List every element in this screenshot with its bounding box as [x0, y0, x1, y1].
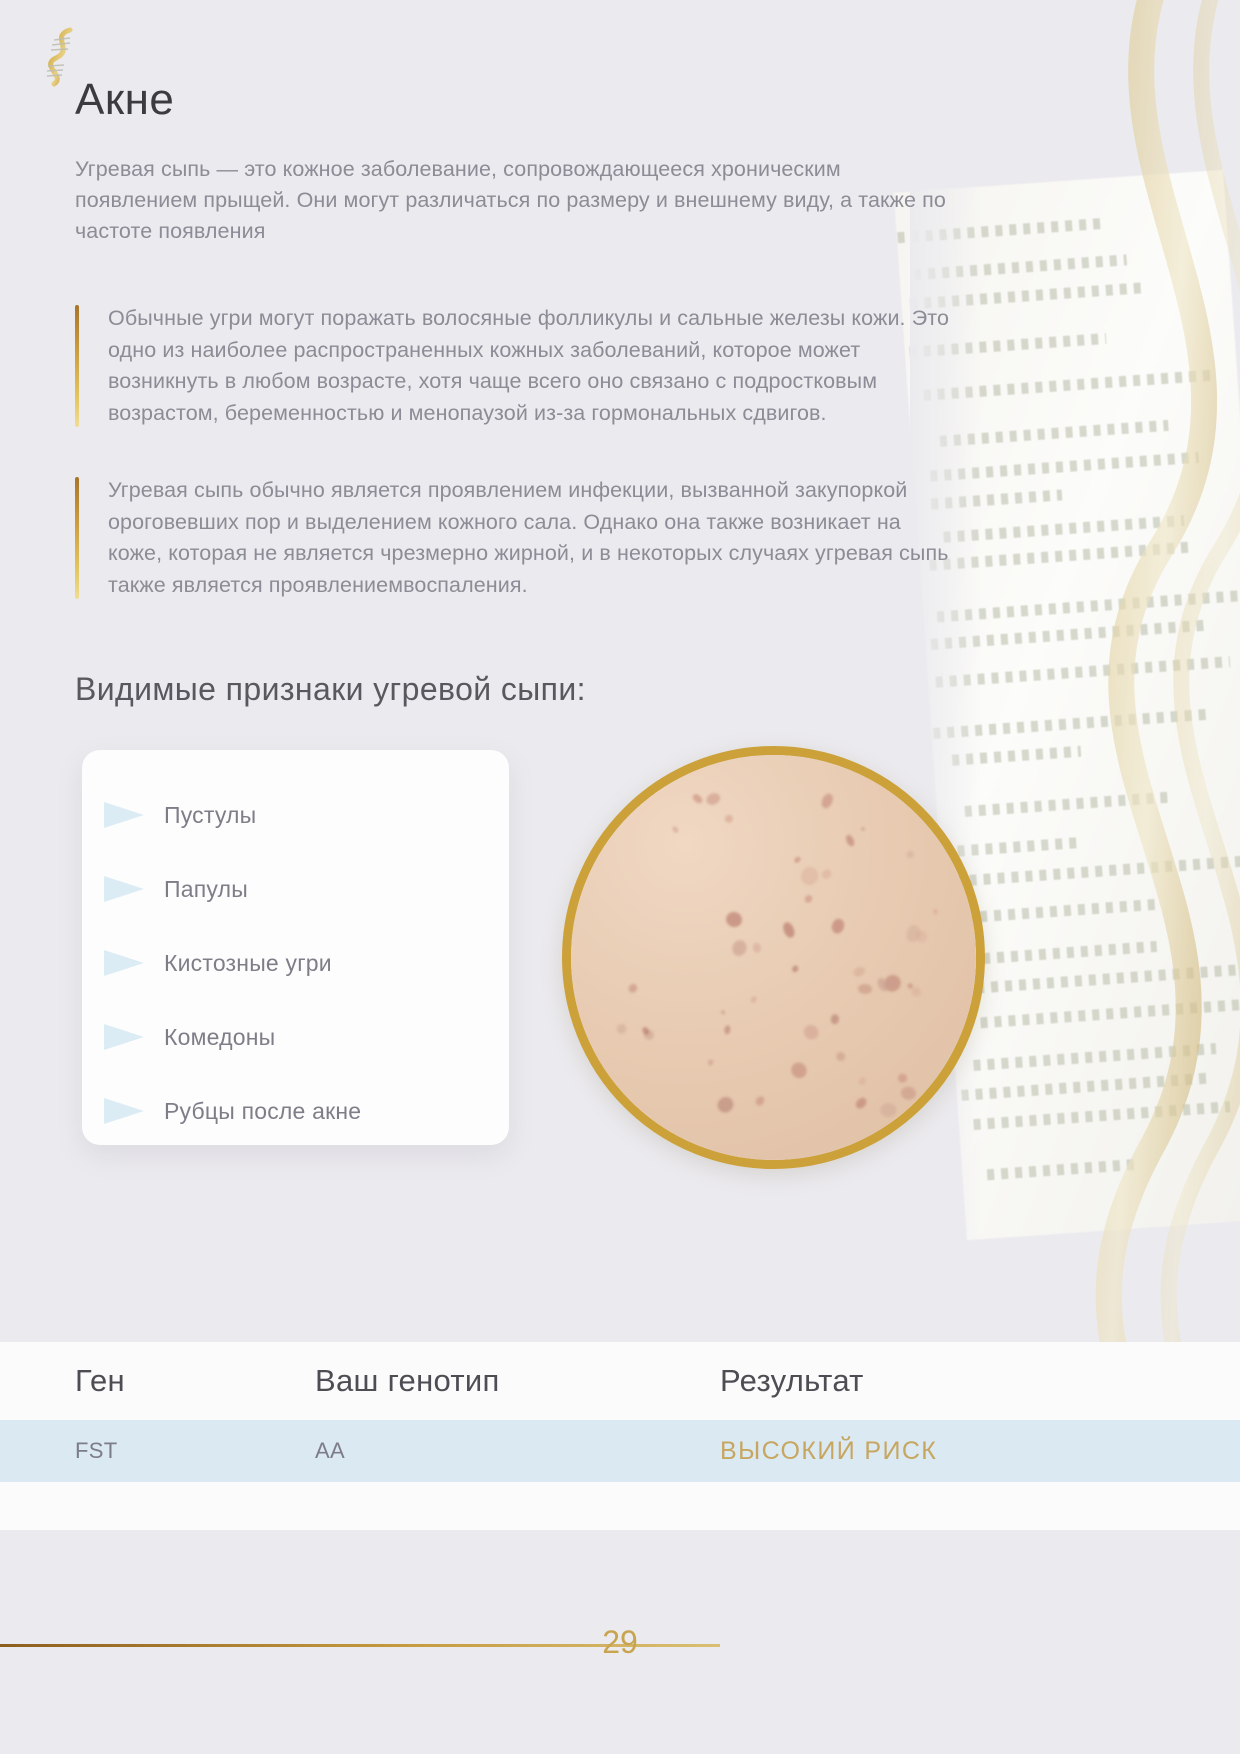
list-item-label: Рубцы после акне [164, 1098, 361, 1125]
list-item[interactable]: Комедоны [82, 1000, 509, 1074]
signs-list: Пустулы Папулы Кистозные угри [82, 750, 509, 1148]
triangle-right-icon [104, 874, 146, 904]
list-item[interactable]: Пустулы [82, 778, 509, 852]
page-title: Акне [75, 78, 1000, 122]
table-header-result: Результат [720, 1363, 1240, 1399]
triangle-right-icon [104, 1022, 146, 1052]
page-footer: 29 [0, 1454, 1240, 1754]
quote-text-1: Обычные угри могут поражать волосяные фо… [108, 303, 955, 429]
list-item-label: Папулы [164, 876, 248, 903]
table-header-genotype: Ваш генотип [315, 1363, 720, 1399]
main-content: Акне Угревая сыпь — это кожное заболеван… [0, 0, 1000, 1170]
page-number: 29 [0, 1624, 1240, 1661]
list-item-label: Кистозные угри [164, 950, 332, 977]
triangle-right-icon [104, 948, 146, 978]
intro-paragraph: Угревая сыпь — это кожное заболевание, с… [75, 154, 960, 247]
signs-card: Пустулы Папулы Кистозные угри [82, 750, 509, 1145]
table-header-gene: Ген [0, 1363, 315, 1399]
list-item-label: Комедоны [164, 1024, 275, 1051]
list-item[interactable]: Кистозные угри [82, 926, 509, 1000]
list-item[interactable]: Папулы [82, 852, 509, 926]
quote-block-2: Угревая сыпь обычно является проявлением… [75, 475, 955, 601]
list-item-label: Пустулы [164, 802, 256, 829]
signs-section: Пустулы Папулы Кистозные угри [75, 750, 1000, 1170]
quote-block-1: Обычные угри могут поражать волосяные фо… [75, 303, 955, 429]
list-item[interactable]: Рубцы после акне [82, 1074, 509, 1148]
quote-text-2: Угревая сыпь обычно является проявлением… [108, 475, 955, 601]
triangle-right-icon [104, 1096, 146, 1126]
table-header-row: Ген Ваш генотип Результат [0, 1342, 1240, 1420]
signs-heading: Видимые признаки угревой сыпи: [75, 671, 1000, 708]
page-root: Акне Угревая сыпь — это кожное заболеван… [0, 0, 1240, 1754]
acne-skin-photo [562, 746, 985, 1169]
triangle-right-icon [104, 800, 146, 830]
